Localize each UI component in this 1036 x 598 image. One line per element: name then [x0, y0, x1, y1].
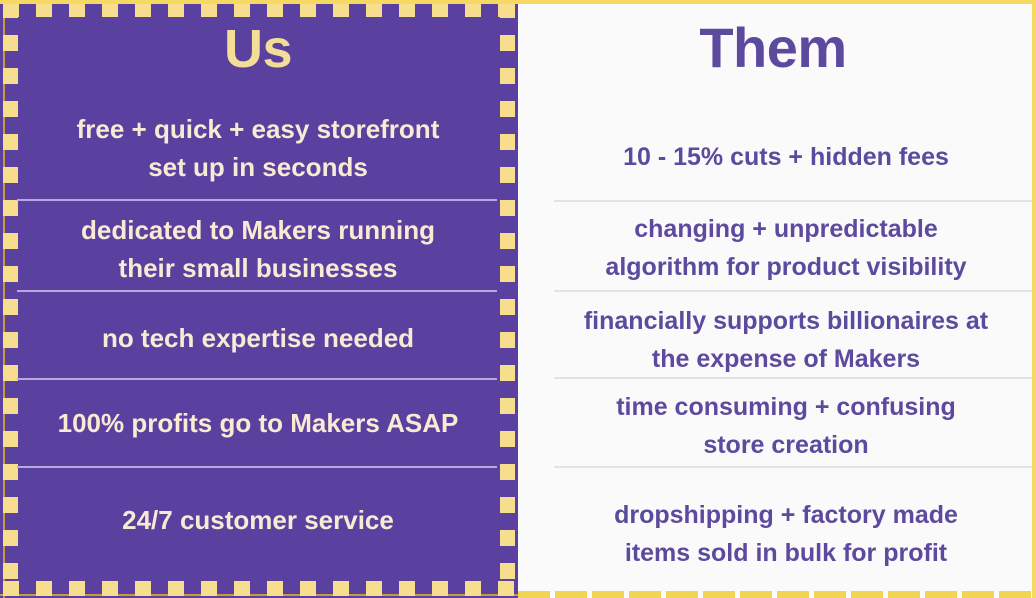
them-content: Them 10 - 15% cuts + hidden fees changin…: [518, 0, 1036, 598]
us-divider-1: [17, 199, 497, 201]
comparison-graphic: Us free + quick + easy storefront set up…: [0, 0, 1036, 598]
them-bottom-dashed-edge: [518, 591, 1036, 598]
dashed-border-left: [3, 2, 18, 596]
them-divider-4: [554, 466, 1032, 468]
us-row-2-line-1: dedicated to Makers running: [17, 211, 499, 249]
them-divider-2: [554, 290, 1032, 292]
us-row-5: 24/7 customer service: [17, 501, 499, 539]
them-row-1: 10 - 15% cuts + hidden fees: [538, 139, 1034, 177]
panel-edge-hairline-left: [3, 0, 5, 598]
us-row-5-line-1: 24/7 customer service: [17, 501, 499, 539]
us-row-3: no tech expertise needed: [17, 319, 499, 357]
us-divider-4: [17, 466, 497, 468]
us-row-4-line-1: 100% profits go to Makers ASAP: [17, 404, 499, 442]
us-row-3-line-1: no tech expertise needed: [17, 319, 499, 357]
them-row-2-line-2: algorithm for product visibility: [538, 249, 1034, 287]
us-divider-3: [17, 378, 497, 380]
us-title: Us: [17, 22, 499, 76]
them-divider-3: [554, 377, 1032, 379]
us-panel: Us free + quick + easy storefront set up…: [0, 0, 518, 598]
us-row-1-line-1: free + quick + easy storefront: [17, 110, 499, 148]
them-row-5-line-1: dropshipping + factory made: [538, 497, 1034, 535]
them-row-5-line-2: items sold in bulk for profit: [538, 535, 1034, 573]
us-row-1-line-2: set up in seconds: [17, 148, 499, 186]
us-row-4: 100% profits go to Makers ASAP: [17, 404, 499, 442]
them-row-5: dropshipping + factory made items sold i…: [538, 497, 1034, 572]
us-row-1: free + quick + easy storefront set up in…: [17, 110, 499, 187]
them-row-4: time consuming + confusing store creatio…: [538, 389, 1034, 464]
them-row-2: changing + unpredictable algorithm for p…: [538, 211, 1034, 286]
outer-frame-right: [1032, 0, 1036, 598]
them-row-2-line-1: changing + unpredictable: [538, 211, 1034, 249]
us-row-2: dedicated to Makers running their small …: [17, 211, 499, 288]
them-row-4-line-1: time consuming + confusing: [538, 389, 1034, 427]
us-divider-2: [17, 290, 497, 292]
them-row-4-line-2: store creation: [538, 427, 1034, 465]
them-row-1-line-1: 10 - 15% cuts + hidden fees: [538, 139, 1034, 177]
outer-frame-top: [0, 0, 1036, 4]
them-title: Them: [518, 20, 1028, 76]
them-row-3-line-1: financially supports billionaires at: [538, 303, 1034, 341]
them-row-3: financially supports billionaires at the…: [538, 303, 1034, 378]
us-content: Us free + quick + easy storefront set up…: [17, 0, 499, 598]
them-row-3-line-2: the expense of Makers: [538, 341, 1034, 379]
them-panel: Them 10 - 15% cuts + hidden fees changin…: [518, 0, 1036, 598]
them-divider-1: [554, 200, 1032, 202]
us-row-2-line-2: their small businesses: [17, 249, 499, 287]
dashed-border-right: [500, 2, 515, 596]
